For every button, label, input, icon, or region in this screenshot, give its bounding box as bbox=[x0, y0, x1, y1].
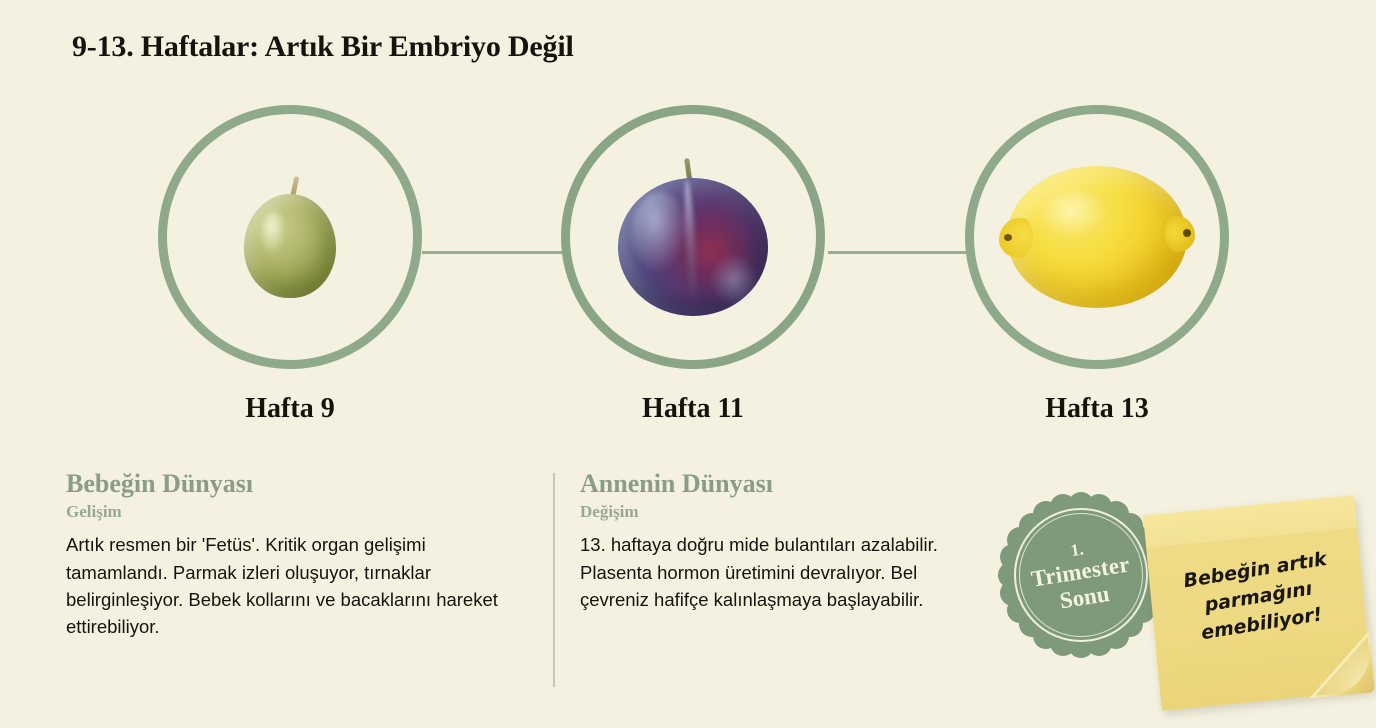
circle-ring-week-13 bbox=[965, 105, 1229, 369]
circle-ring-week-11 bbox=[561, 105, 825, 369]
section-mother-world: Annenin Dünyası Değişim 13. haftaya doğr… bbox=[580, 470, 980, 613]
trimester-seal-badge: 1. Trimester Sonu bbox=[1004, 498, 1158, 652]
yellow-lemon-icon bbox=[999, 166, 1195, 308]
section-body-baby: Artık resmen bir 'Fetüs'. Kritik organ g… bbox=[66, 531, 526, 641]
section-baby-world: Bebeğin Dünyası Gelişim Artık resmen bir… bbox=[66, 470, 526, 641]
connector-line-2 bbox=[828, 251, 968, 254]
timeline-node-week-9[interactable]: Hafta 9 bbox=[150, 100, 430, 425]
section-title-mother: Annenin Dünyası bbox=[580, 470, 980, 499]
node-label-week-11: Hafta 11 bbox=[553, 393, 833, 425]
timeline: Hafta 9 Hafta 11 bbox=[0, 100, 1376, 445]
sticky-note: Bebeğin artık parmağını emebiliyor! bbox=[1143, 495, 1373, 710]
section-subtitle-mother: Değişim bbox=[580, 503, 980, 522]
green-olive-icon bbox=[244, 176, 336, 298]
connector-line-1 bbox=[422, 251, 562, 254]
timeline-node-week-11[interactable]: Hafta 11 bbox=[553, 100, 833, 425]
node-label-week-9: Hafta 9 bbox=[150, 393, 430, 425]
badge-text: 1. Trimester Sonu bbox=[993, 487, 1169, 663]
section-subtitle-baby: Gelişim bbox=[66, 503, 526, 522]
infographic-page: 9-13. Haftalar: Artık Bir Embriyo Değil … bbox=[0, 0, 1376, 728]
node-label-week-13: Hafta 13 bbox=[957, 393, 1237, 425]
section-title-baby: Bebeğin Dünyası bbox=[66, 470, 526, 499]
column-divider bbox=[553, 473, 555, 687]
page-title: 9-13. Haftalar: Artık Bir Embriyo Değil bbox=[72, 30, 574, 64]
circle-ring-week-9 bbox=[158, 105, 422, 369]
timeline-node-week-13[interactable]: Hafta 13 bbox=[957, 100, 1237, 425]
badge-line-1: 1. bbox=[1069, 539, 1085, 560]
purple-plum-icon bbox=[618, 158, 768, 316]
section-body-mother: 13. haftaya doğru mide bulantıları azala… bbox=[580, 531, 980, 613]
